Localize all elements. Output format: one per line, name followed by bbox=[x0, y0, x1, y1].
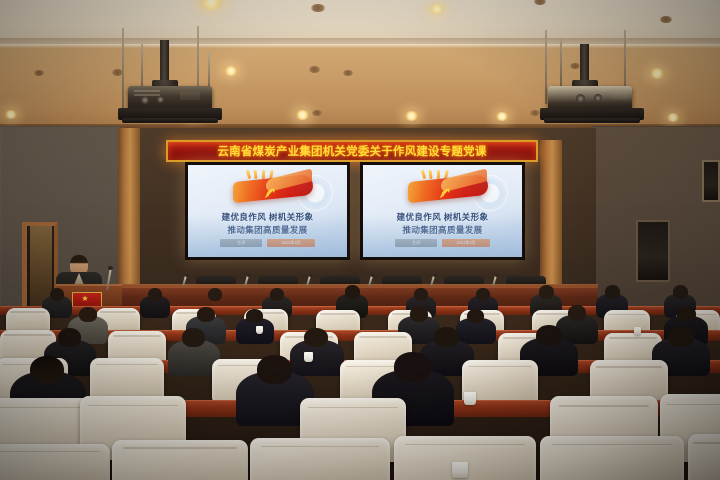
projector-plate-lip bbox=[122, 118, 218, 123]
attendee-head bbox=[677, 306, 696, 322]
soffit-fixture bbox=[530, 110, 540, 116]
projector-mount-rod bbox=[141, 44, 143, 92]
soffit-fixture bbox=[34, 70, 44, 76]
soffit-fixture bbox=[570, 63, 580, 69]
projector-lens bbox=[141, 96, 149, 104]
paper-cup bbox=[464, 392, 476, 405]
podium-emblem-icon: ★ bbox=[80, 294, 90, 304]
attendee-head bbox=[410, 306, 428, 322]
audience-chair-foreground bbox=[112, 440, 248, 480]
attendee-head bbox=[50, 288, 64, 301]
slide-mist bbox=[188, 215, 347, 257]
soffit-downlight bbox=[4, 110, 18, 119]
audience-chair-foreground bbox=[250, 438, 390, 480]
audience-chair-foreground bbox=[540, 436, 684, 480]
attendee-head bbox=[414, 288, 428, 301]
attendee-head bbox=[605, 285, 620, 299]
projector-plate-lip bbox=[544, 118, 640, 123]
attendee-head bbox=[58, 328, 81, 347]
soffit-downlight bbox=[495, 112, 509, 121]
banner-text: 云南省煤炭产业集团机关党委关于作风建设专题党课 bbox=[217, 143, 486, 159]
party-flag-graphic bbox=[408, 172, 488, 205]
audience-chair bbox=[6, 308, 50, 332]
wall-panel-right bbox=[636, 220, 670, 282]
attendee-head bbox=[148, 288, 162, 301]
slide-mist bbox=[363, 215, 522, 257]
projection-screen-left: 建优良作风 树机关形象 推动集团高质量发展 主讲 2024年3月 bbox=[185, 162, 350, 260]
attendee-head bbox=[182, 328, 205, 347]
projection-screen-right: 建优良作风 树机关形象 推动集团高质量发展 主讲 2024年3月 bbox=[360, 162, 525, 260]
attendee-head bbox=[270, 288, 284, 301]
attendee-head bbox=[673, 285, 688, 299]
microphone-head bbox=[247, 274, 251, 277]
wood-pillar-right bbox=[540, 140, 562, 290]
soffit-downlight bbox=[666, 113, 680, 122]
attendee-head bbox=[208, 288, 222, 301]
attendee-head bbox=[467, 309, 484, 323]
audience-chair-foreground bbox=[688, 434, 720, 480]
podium-microphone-head bbox=[108, 266, 113, 270]
microphone-head bbox=[371, 274, 375, 277]
projector-lens bbox=[594, 94, 602, 102]
soffit-downlight bbox=[404, 111, 419, 121]
slide-left: 建优良作风 树机关形象 推动集团高质量发展 主讲 2024年3月 bbox=[188, 165, 347, 257]
soffit-fixture bbox=[312, 110, 322, 116]
attendee-head bbox=[568, 305, 586, 321]
projector-vent bbox=[180, 92, 200, 100]
projector-lens bbox=[576, 94, 585, 103]
projector-lens bbox=[157, 96, 164, 103]
attendee-head bbox=[536, 325, 562, 346]
microphone-head bbox=[309, 274, 313, 277]
audience-chair bbox=[90, 358, 164, 400]
paper-cup bbox=[634, 327, 641, 335]
soffit-downlight bbox=[295, 110, 310, 120]
audience-chair-foreground bbox=[0, 444, 110, 480]
attendee-head bbox=[304, 328, 328, 347]
projector-mount-rod bbox=[122, 28, 124, 110]
soffit-downlight bbox=[224, 66, 238, 76]
projector-mount-rod bbox=[560, 38, 562, 88]
soffit-fixture bbox=[343, 70, 353, 76]
projector-mount-rod bbox=[545, 30, 547, 104]
wall-panel-upper-right bbox=[702, 160, 720, 202]
attendee-head bbox=[79, 307, 97, 322]
attendee-head bbox=[539, 285, 554, 299]
soffit-upper-edge bbox=[0, 44, 720, 48]
conference-hall-photo: 云南省煤炭产业集团机关党委关于作风建设专题党课 bbox=[0, 0, 720, 480]
soffit-fixture bbox=[309, 66, 320, 73]
attendee-head bbox=[30, 356, 64, 384]
paper-cup bbox=[304, 352, 313, 362]
paper-cup bbox=[256, 326, 263, 334]
attendee-head bbox=[345, 285, 360, 299]
attendee-head bbox=[394, 352, 431, 382]
slide-right: 建优良作风 树机关形象 推动集团高质量发展 主讲 2024年3月 bbox=[363, 165, 522, 257]
projector-vent bbox=[134, 90, 160, 92]
ceiling-fixture bbox=[311, 4, 325, 12]
party-flag-graphic bbox=[233, 172, 313, 205]
attendee-head bbox=[476, 288, 490, 301]
attendee-head bbox=[197, 307, 215, 322]
ceiling-downlight bbox=[429, 4, 445, 14]
paper-cup bbox=[452, 462, 468, 478]
hammer-sickle-icon bbox=[435, 186, 456, 200]
attendee-head bbox=[668, 326, 694, 347]
ceiling-fixture bbox=[660, 16, 672, 23]
attendee-head bbox=[257, 355, 292, 384]
hammer-sickle-icon bbox=[260, 186, 281, 200]
attendee-head bbox=[246, 309, 263, 323]
event-banner: 云南省煤炭产业集团机关党委关于作风建设专题党课 bbox=[166, 140, 538, 162]
attendee-head bbox=[434, 327, 459, 347]
projector-vent bbox=[612, 92, 628, 99]
microphone-head bbox=[185, 274, 189, 277]
microphone-head bbox=[495, 274, 499, 277]
microphone-head bbox=[433, 274, 437, 277]
soffit-downlight bbox=[649, 68, 665, 79]
